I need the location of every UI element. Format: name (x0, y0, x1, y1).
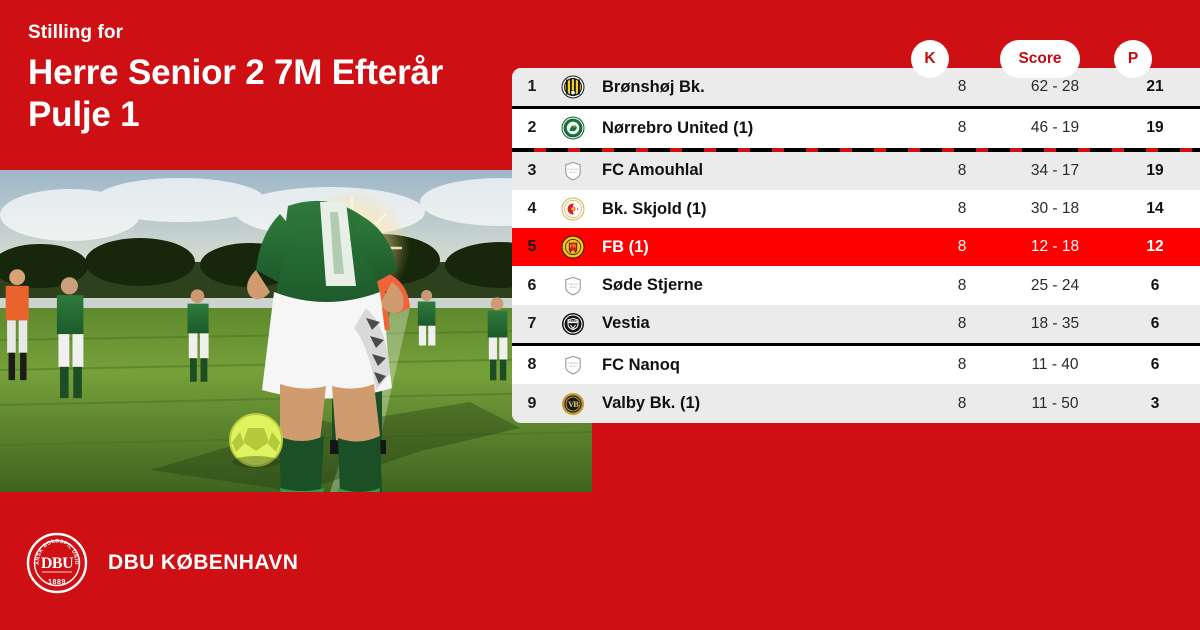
club-crest-icon (552, 116, 594, 140)
row-points: 21 (1110, 78, 1200, 96)
row-matches-played: 8 (924, 315, 1000, 333)
club-crest-icon: KLUBLOGO PÅ VEJ (552, 159, 594, 183)
table-row[interactable]: 5 FR FB (1)812 - 1812 (512, 228, 1200, 266)
svg-text:PÅ VEJ: PÅ VEJ (569, 171, 576, 174)
row-team-name[interactable]: Nørrebro United (1) (594, 119, 924, 138)
standings-table[interactable]: 1 Brønshøj Bk.862 - 28212 Nørrebro Unite… (512, 68, 1200, 423)
row-goal-score: 46 - 19 (1000, 119, 1110, 137)
row-points: 19 (1110, 162, 1200, 180)
row-rank: 4 (512, 200, 552, 218)
row-rank: 2 (512, 119, 552, 137)
row-goal-score: 62 - 28 (1000, 78, 1110, 96)
row-rank: 9 (512, 395, 552, 413)
column-header-pills: K Score P (0, 40, 1200, 80)
row-goal-score: 12 - 18 (1000, 238, 1110, 256)
row-points: 14 (1110, 200, 1200, 218)
row-team-name[interactable]: FB (1) (594, 238, 924, 257)
row-points: 6 (1110, 315, 1200, 333)
row-rank: 6 (512, 277, 552, 295)
row-team-name[interactable]: Valby Bk. (1) (594, 394, 924, 413)
column-header-score: Score (1000, 40, 1080, 78)
row-matches-played: 8 (924, 395, 1000, 413)
row-points: 6 (1110, 277, 1200, 295)
row-team-name[interactable]: FC Amouhlal (594, 161, 924, 180)
table-row[interactable]: 4 Bk. Skjold (1)830 - 1814 (512, 190, 1200, 228)
svg-text:DBU: DBU (41, 555, 74, 572)
svg-text:1889: 1889 (48, 579, 66, 586)
row-points: 6 (1110, 356, 1200, 374)
table-row[interactable]: 6 KLUBLOGO PÅ VEJSøde Stjerne825 - 246 (512, 266, 1200, 304)
row-points: 3 (1110, 395, 1200, 413)
footer-block: DANSK BOLDSPIL UNION DBU 1889 DBU KØBENH… (26, 532, 298, 594)
table-row[interactable]: 7 VESTIA Vestia818 - 356 (512, 305, 1200, 343)
club-crest-icon: KLUBLOGO PÅ VEJ (552, 274, 594, 298)
row-team-name[interactable]: FC Nanoq (594, 356, 924, 375)
table-row[interactable]: 3 KLUBLOGO PÅ VEJFC Amouhlal834 - 1719 (512, 152, 1200, 190)
svg-text:PÅ VEJ: PÅ VEJ (569, 365, 576, 368)
row-points: 12 (1110, 238, 1200, 256)
row-team-name[interactable]: Søde Stjerne (594, 276, 924, 295)
row-goal-score: 11 - 50 (1000, 395, 1110, 413)
row-rank: 1 (512, 78, 552, 96)
row-matches-played: 8 (924, 200, 1000, 218)
dbu-logo-icon: DANSK BOLDSPIL UNION DBU 1889 (26, 532, 88, 594)
club-crest-icon: VESTIA (552, 312, 594, 336)
row-matches-played: 8 (924, 78, 1000, 96)
row-rank: 5 (512, 238, 552, 256)
svg-text:FR: FR (570, 244, 577, 249)
svg-text:PÅ VEJ: PÅ VEJ (569, 285, 576, 288)
svg-text:VB: VB (568, 400, 579, 409)
table-row[interactable]: 9 VBValby Bk. (1)811 - 503 (512, 384, 1200, 422)
row-points: 19 (1110, 119, 1200, 137)
row-rank: 8 (512, 356, 552, 374)
footer-organisation: DBU KØBENHAVN (108, 551, 298, 575)
row-goal-score: 11 - 40 (1000, 356, 1110, 374)
row-matches-played: 8 (924, 277, 1000, 295)
svg-text:VESTIA: VESTIA (568, 319, 577, 323)
club-crest-icon (552, 197, 594, 221)
svg-text:KLUBLOGO: KLUBLOGO (567, 363, 579, 365)
club-crest-icon: VB (552, 392, 594, 416)
page-title-line2: Pulje 1 (28, 94, 498, 137)
row-goal-score: 34 - 17 (1000, 162, 1110, 180)
row-rank: 3 (512, 162, 552, 180)
row-goal-score: 18 - 35 (1000, 315, 1110, 333)
row-team-name[interactable]: Vestia (594, 314, 924, 333)
row-matches-played: 8 (924, 119, 1000, 137)
row-team-name[interactable]: Bk. Skjold (1) (594, 200, 924, 219)
row-matches-played: 8 (924, 356, 1000, 374)
table-row[interactable]: 2 Nørrebro United (1)846 - 1919 (512, 109, 1200, 147)
column-header-p: P (1114, 40, 1152, 78)
club-crest-icon: KLUBLOGO PÅ VEJ (552, 353, 594, 377)
row-team-name[interactable]: Brønshøj Bk. (594, 78, 924, 97)
svg-text:KLUBLOGO: KLUBLOGO (567, 169, 579, 171)
table-row[interactable]: 8 KLUBLOGO PÅ VEJFC Nanoq811 - 406 (512, 346, 1200, 384)
column-header-k: K (911, 40, 949, 78)
svg-text:KLUBLOGO: KLUBLOGO (567, 284, 579, 286)
row-matches-played: 8 (924, 238, 1000, 256)
row-matches-played: 8 (924, 162, 1000, 180)
row-goal-score: 25 - 24 (1000, 277, 1110, 295)
row-rank: 7 (512, 315, 552, 333)
club-crest-icon: FR (552, 235, 594, 259)
row-goal-score: 30 - 18 (1000, 200, 1110, 218)
football-photo (0, 170, 592, 492)
